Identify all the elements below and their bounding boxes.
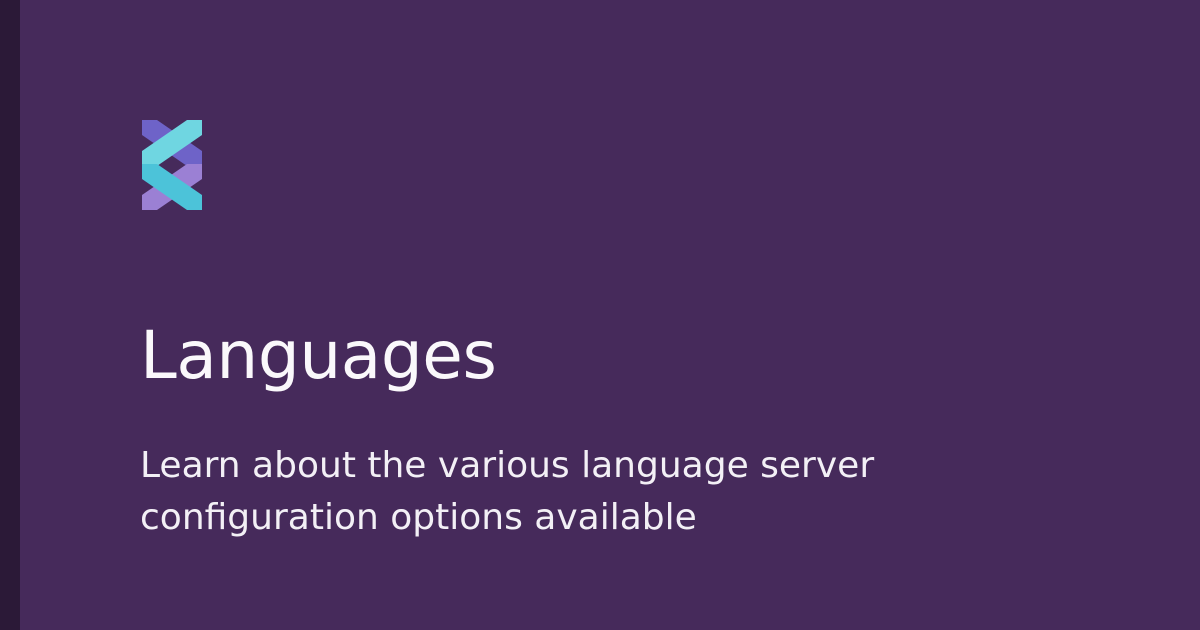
page-subtitle-line-2: configuration options available (140, 492, 940, 544)
page-title: Languages (140, 316, 497, 396)
page-subtitle: Learn about the various language server … (140, 440, 940, 544)
page-subtitle-line-1: Learn about the various language server (140, 440, 940, 492)
helix-logo (140, 118, 204, 212)
card-content: Languages Learn about the various langua… (140, 0, 1140, 630)
og-card: Languages Learn about the various langua… (0, 0, 1200, 630)
left-edge-strip (0, 0, 20, 630)
